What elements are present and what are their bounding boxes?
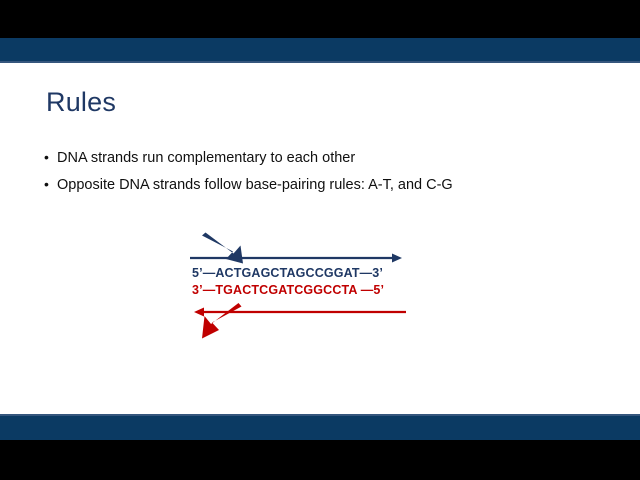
dna-double-strand-diagram: 5’—ACTGAGCTAGCCGGAT—3’ 3’—TGACTCGATCGGCC… (0, 63, 640, 414)
bottom-emphasis-arrow-icon (202, 303, 242, 339)
bottom-banner-band (0, 416, 640, 440)
top-strand-sequence: 5’—ACTGAGCTAGCCGGAT—3’ (192, 266, 383, 280)
top-banner-band (0, 38, 640, 61)
slide-viewport: Rules • DNA strands run complementary to… (0, 0, 640, 480)
bottom-direction-arrow-icon (194, 308, 406, 317)
bottom-strand-sequence: 3’—TGACTCGATCGGCCTA —5’ (192, 283, 384, 297)
slide-canvas: Rules • DNA strands run complementary to… (0, 63, 640, 414)
diagram-vector-layer (0, 63, 640, 414)
top-direction-arrow-icon (190, 254, 402, 263)
